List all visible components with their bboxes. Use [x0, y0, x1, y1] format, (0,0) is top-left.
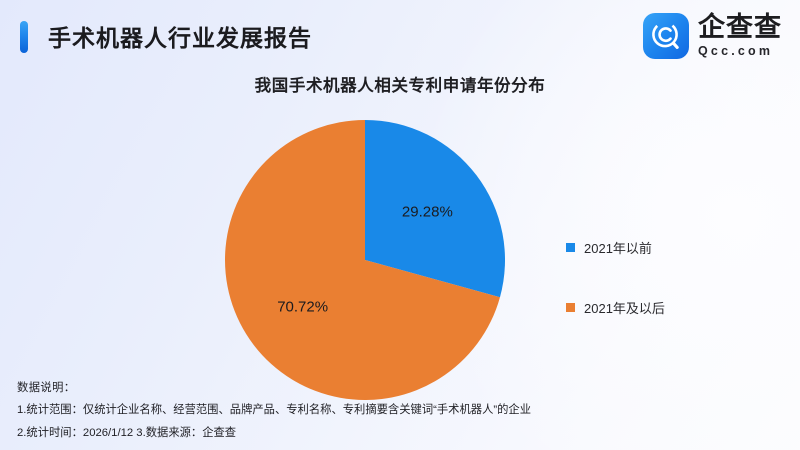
brand-wordmark: 企查查 Qcc.com [698, 14, 782, 58]
legend-label: 2021年以前 [584, 238, 652, 257]
pie-slice-label-2021-after: 70.72% [277, 298, 328, 315]
slide-canvas: 手术机器人行业发展报告 企查查 Qcc.com 我国手术机器人相关专利申请年份分… [0, 0, 800, 450]
note-line-time-source: 2.统计时间：2026/1/12 3.数据来源：企查查 [17, 428, 777, 439]
page-title: 手术机器人行业发展报告 [48, 19, 312, 53]
pie-chart: 29.28% 70.72% [225, 120, 505, 400]
legend-item-2021-after[interactable]: 2021年及以后 [566, 298, 766, 316]
legend-swatch-icon [566, 303, 575, 312]
brand-name: 企查查 [698, 14, 782, 41]
notes-heading: 数据说明： [17, 383, 777, 394]
pie-slice-label-2021-before: 29.28% [402, 203, 453, 220]
chart-title: 我国手术机器人相关专利申请年份分布 [0, 72, 800, 96]
data-notes: 数据说明： 1.统计范围：仅统计企业名称、经营范围、品牌产品、专利名称、专利摘要… [17, 383, 777, 439]
pie-slices [225, 120, 505, 400]
brand-logo[interactable]: 企查查 Qcc.com [643, 13, 782, 59]
chart-legend: 2021年以前 2021年及以后 [566, 238, 766, 316]
note-line-scope: 1.统计范围：仅统计企业名称、经营范围、品牌产品、专利名称、专利摘要含关键词“手… [17, 405, 777, 416]
legend-swatch-icon [566, 243, 575, 252]
legend-item-2021-before[interactable]: 2021年以前 [566, 238, 766, 256]
qcc-logo-icon [643, 13, 689, 59]
title-accent-bar [20, 21, 28, 53]
legend-label: 2021年及以后 [584, 298, 665, 317]
brand-domain: Qcc.com [698, 45, 782, 58]
slide-header: 手术机器人行业发展报告 企查查 Qcc.com [0, 0, 800, 72]
